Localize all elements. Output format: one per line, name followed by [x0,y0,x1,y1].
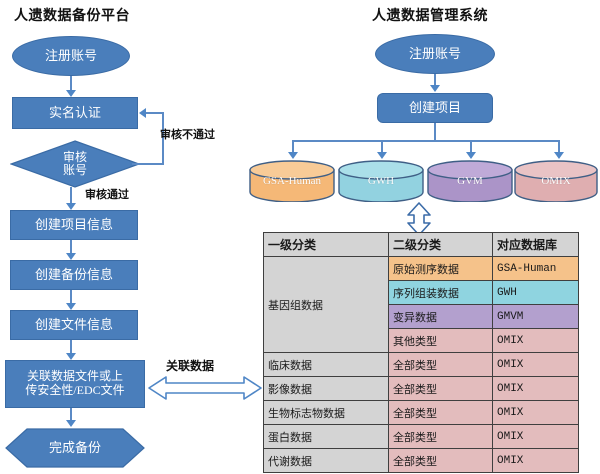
bridge-label: 关联数据 [166,357,214,374]
arrow-file-to-link [66,353,76,360]
arrow-pass-to-create-project [66,203,76,210]
table-header-database: 对应数据库 [493,233,579,257]
bridge-double-arrow [148,373,262,403]
connector-branch-bus [292,140,559,142]
node-realname-auth-label: 实名认证 [49,106,101,121]
hexagon-shape [5,428,145,468]
table-cell-primary: 代谢数据 [264,449,389,473]
table-cell-secondary: 全部类型 [389,401,493,425]
arrow-to-db-3 [466,152,476,159]
table-cell-secondary: 序列组装数据 [389,281,493,305]
right-panel-title: 人遗数据管理系统 [372,5,488,25]
arrow-register-to-create-project-mgmt [430,85,440,92]
table-cell-primary: 生物标志物数据 [264,401,389,425]
table-cell-secondary: 全部类型 [389,377,493,401]
node-create-project-mgmt[interactable]: 创建项目 [377,93,493,123]
db-table-double-arrow [406,202,432,236]
double-arrow-horizontal-icon [148,373,262,403]
table-cell-secondary: 变异数据 [389,305,493,329]
table-row: 蛋白数据 全部类型 OMIX [264,425,579,449]
node-create-project-info-label: 创建项目信息 [35,218,113,233]
node-create-backup-info[interactable]: 创建备份信息 [10,260,138,290]
left-panel-title: 人遗数据备份平台 [14,5,130,25]
arrow-backup-to-file [66,303,76,310]
cylinder-shape [514,160,598,202]
node-register-mgmt[interactable]: 注册账号 [375,34,495,74]
table-header-row: 一级分类 二级分类 对应数据库 [264,233,579,257]
node-register-backup-label: 注册账号 [45,49,97,64]
node-link-or-upload-line2: 传安全性/EDC文件 [25,384,124,398]
table-cell-database: OMIX [493,377,579,401]
arrow-register-to-realname [66,90,76,97]
arrow-project-to-backup [66,253,76,260]
node-create-file-info-label: 创建文件信息 [35,318,113,333]
node-review-account[interactable]: 审核 账号 [10,140,140,188]
table-row: 临床数据 全部类型 OMIX [264,353,579,377]
table-cell-secondary: 原始测序数据 [389,257,493,281]
database-cylinder-gsa-human[interactable]: GSA-Human [249,160,335,202]
arrow-to-db-4 [554,152,564,159]
classification-table: 一级分类 二级分类 对应数据库 基因组数据 原始测序数据 GSA-Human 序… [263,232,579,473]
table-row: 基因组数据 原始测序数据 GSA-Human [264,257,579,281]
database-cylinder-gwh[interactable]: GWH [338,160,424,202]
table-cell-primary: 蛋白数据 [264,425,389,449]
table-cell-primary: 影像数据 [264,377,389,401]
node-create-project-info[interactable]: 创建项目信息 [10,210,138,240]
double-arrow-vertical-icon [406,202,432,236]
node-realname-auth[interactable]: 实名认证 [12,97,138,129]
table-cell-database: OMIX [493,401,579,425]
edge-label-reject: 审核不通过 [160,126,215,142]
table-cell-database: OMIX [493,425,579,449]
table-cell-secondary: 全部类型 [389,425,493,449]
arrow-link-to-finish [66,420,76,427]
table-cell-secondary: 其他类型 [389,329,493,353]
connector-reject-horizontal-top [146,112,164,114]
edge-label-pass: 审核通过 [85,186,129,202]
database-cylinder-gvm[interactable]: GVM [427,160,513,202]
node-create-backup-info-label: 创建备份信息 [35,268,113,283]
table-row: 影像数据 全部类型 OMIX [264,377,579,401]
table-cell-primary: 基因组数据 [264,257,389,353]
node-register-mgmt-label: 注册账号 [409,47,461,62]
table-cell-database: OMIX [493,329,579,353]
node-finish-backup[interactable]: 完成备份 [5,428,145,468]
table-cell-secondary: 全部类型 [389,449,493,473]
arrow-reject-to-realname [139,108,146,118]
node-register-backup[interactable]: 注册账号 [12,36,130,76]
table-cell-database: GMVM [493,305,579,329]
connector-reject-horizontal-bottom [132,163,164,165]
table-row: 生物标志物数据 全部类型 OMIX [264,401,579,425]
cylinder-shape [427,160,513,202]
table-row: 代谢数据 全部类型 OMIX [264,449,579,473]
table-cell-database: GWH [493,281,579,305]
node-create-file-info[interactable]: 创建文件信息 [10,310,138,340]
node-link-or-upload[interactable]: 关联数据文件或上 传安全性/EDC文件 [5,360,145,408]
cylinder-shape [249,160,335,202]
table-cell-primary: 临床数据 [264,353,389,377]
connector-branch-stem [434,123,436,141]
diamond-shape [10,140,140,188]
arrow-to-db-1 [288,152,298,159]
arrow-to-db-2 [377,152,387,159]
table-header-secondary: 二级分类 [389,233,493,257]
node-link-or-upload-line1: 关联数据文件或上 [25,370,124,384]
cylinder-shape [338,160,424,202]
table-cell-database: OMIX [493,353,579,377]
node-create-project-mgmt-label: 创建项目 [409,101,461,116]
database-cylinder-omix[interactable]: OMIX [514,160,598,202]
table-header-primary: 一级分类 [264,233,389,257]
table-cell-database: GSA-Human [493,257,579,281]
table-cell-secondary: 全部类型 [389,353,493,377]
table-cell-database: OMIX [493,449,579,473]
